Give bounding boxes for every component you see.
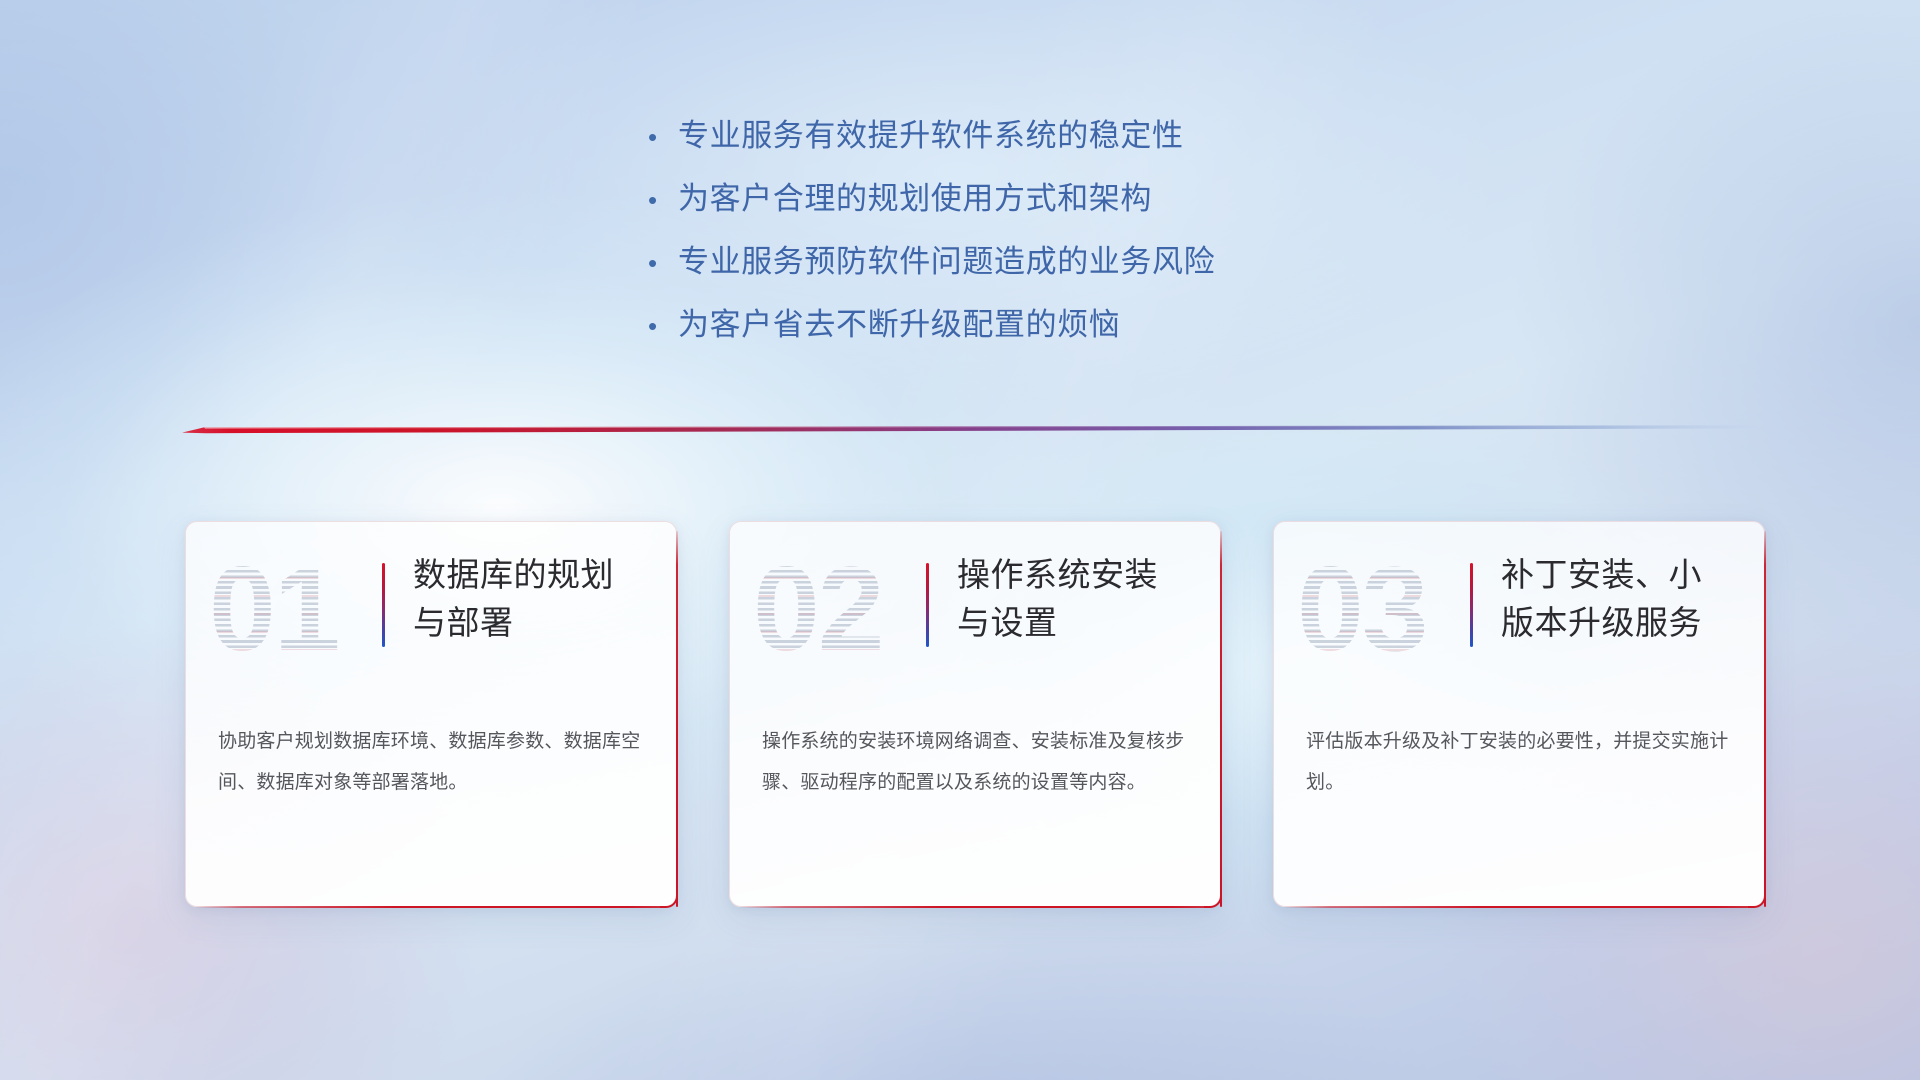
card-accent-right — [1220, 531, 1223, 907]
bullet-label: 为客户合理的规划使用方式和架构 — [678, 173, 1152, 218]
section-divider — [182, 420, 1762, 436]
bullet-dot-icon: • — [648, 187, 678, 213]
service-card[interactable]: 01 01 数据库的规划 与部署 协助客户规划数据库环境、数据库参数、数据库空间… — [185, 521, 677, 907]
card-title-line: 版本升级服务 — [1501, 599, 1749, 647]
benefits-bullet-list: • 专业服务有效提升软件系统的稳定性 • 为客户合理的规划使用方式和架构 • 专… — [648, 110, 1408, 362]
card-title-line: 补丁安装、小 — [1501, 551, 1749, 599]
slide-canvas: • 专业服务有效提升软件系统的稳定性 • 为客户合理的规划使用方式和架构 • 专… — [0, 0, 1920, 1080]
service-card[interactable]: 02 02 操作系统安装 与设置 操作系统的安装环境网络调查、安装标准及复核步骤… — [729, 521, 1221, 907]
card-body-text: 协助客户规划数据库环境、数据库参数、数据库空间、数据库对象等部署落地。 — [218, 721, 653, 803]
card-title-line: 操作系统安装 — [957, 551, 1205, 599]
bullet-dot-icon: • — [648, 313, 678, 339]
card-number-watermark: 02 — [753, 543, 913, 675]
card-accent-right — [676, 531, 679, 907]
card-title-line: 与部署 — [413, 599, 661, 647]
service-card-list: 01 01 数据库的规划 与部署 协助客户规划数据库环境、数据库参数、数据库空间… — [185, 521, 1765, 911]
bullet-item: • 专业服务预防软件问题造成的业务风险 — [648, 236, 1408, 299]
bullet-dot-icon: • — [648, 124, 678, 150]
card-title: 补丁安装、小 版本升级服务 — [1501, 551, 1749, 647]
bullet-item: • 专业服务有效提升软件系统的稳定性 — [648, 110, 1408, 173]
card-number-watermark: 03 — [1297, 543, 1457, 675]
card-title-line: 数据库的规划 — [413, 551, 661, 599]
bullet-label: 为客户省去不断升级配置的烦恼 — [678, 299, 1120, 344]
card-title: 操作系统安装 与设置 — [957, 551, 1205, 647]
bullet-item: • 为客户省去不断升级配置的烦恼 — [648, 299, 1408, 362]
card-accent-bottom — [1283, 906, 1755, 909]
bullet-label: 专业服务预防软件问题造成的业务风险 — [678, 236, 1215, 281]
bullet-dot-icon: • — [648, 250, 678, 276]
divider-shape — [182, 420, 1762, 436]
bullet-item: • 为客户合理的规划使用方式和架构 — [648, 173, 1408, 236]
card-title-rule — [382, 563, 385, 647]
card-body-text: 操作系统的安装环境网络调查、安装标准及复核步骤、驱动程序的配置以及系统的设置等内… — [762, 721, 1197, 803]
card-accent-bottom — [739, 906, 1211, 909]
card-title: 数据库的规划 与部署 — [413, 551, 661, 647]
bullet-label: 专业服务有效提升软件系统的稳定性 — [678, 110, 1184, 155]
service-card[interactable]: 03 03 补丁安装、小 版本升级服务 评估版本升级及补丁安装的必要性，并提交实… — [1273, 521, 1765, 907]
card-accent-bottom — [195, 906, 667, 909]
card-title-line: 与设置 — [957, 599, 1205, 647]
card-accent-right — [1764, 531, 1767, 907]
card-body-text: 评估版本升级及补丁安装的必要性，并提交实施计划。 — [1306, 721, 1741, 803]
card-number-watermark: 01 — [209, 543, 369, 675]
card-title-rule — [926, 563, 929, 647]
card-title-rule — [1470, 563, 1473, 647]
